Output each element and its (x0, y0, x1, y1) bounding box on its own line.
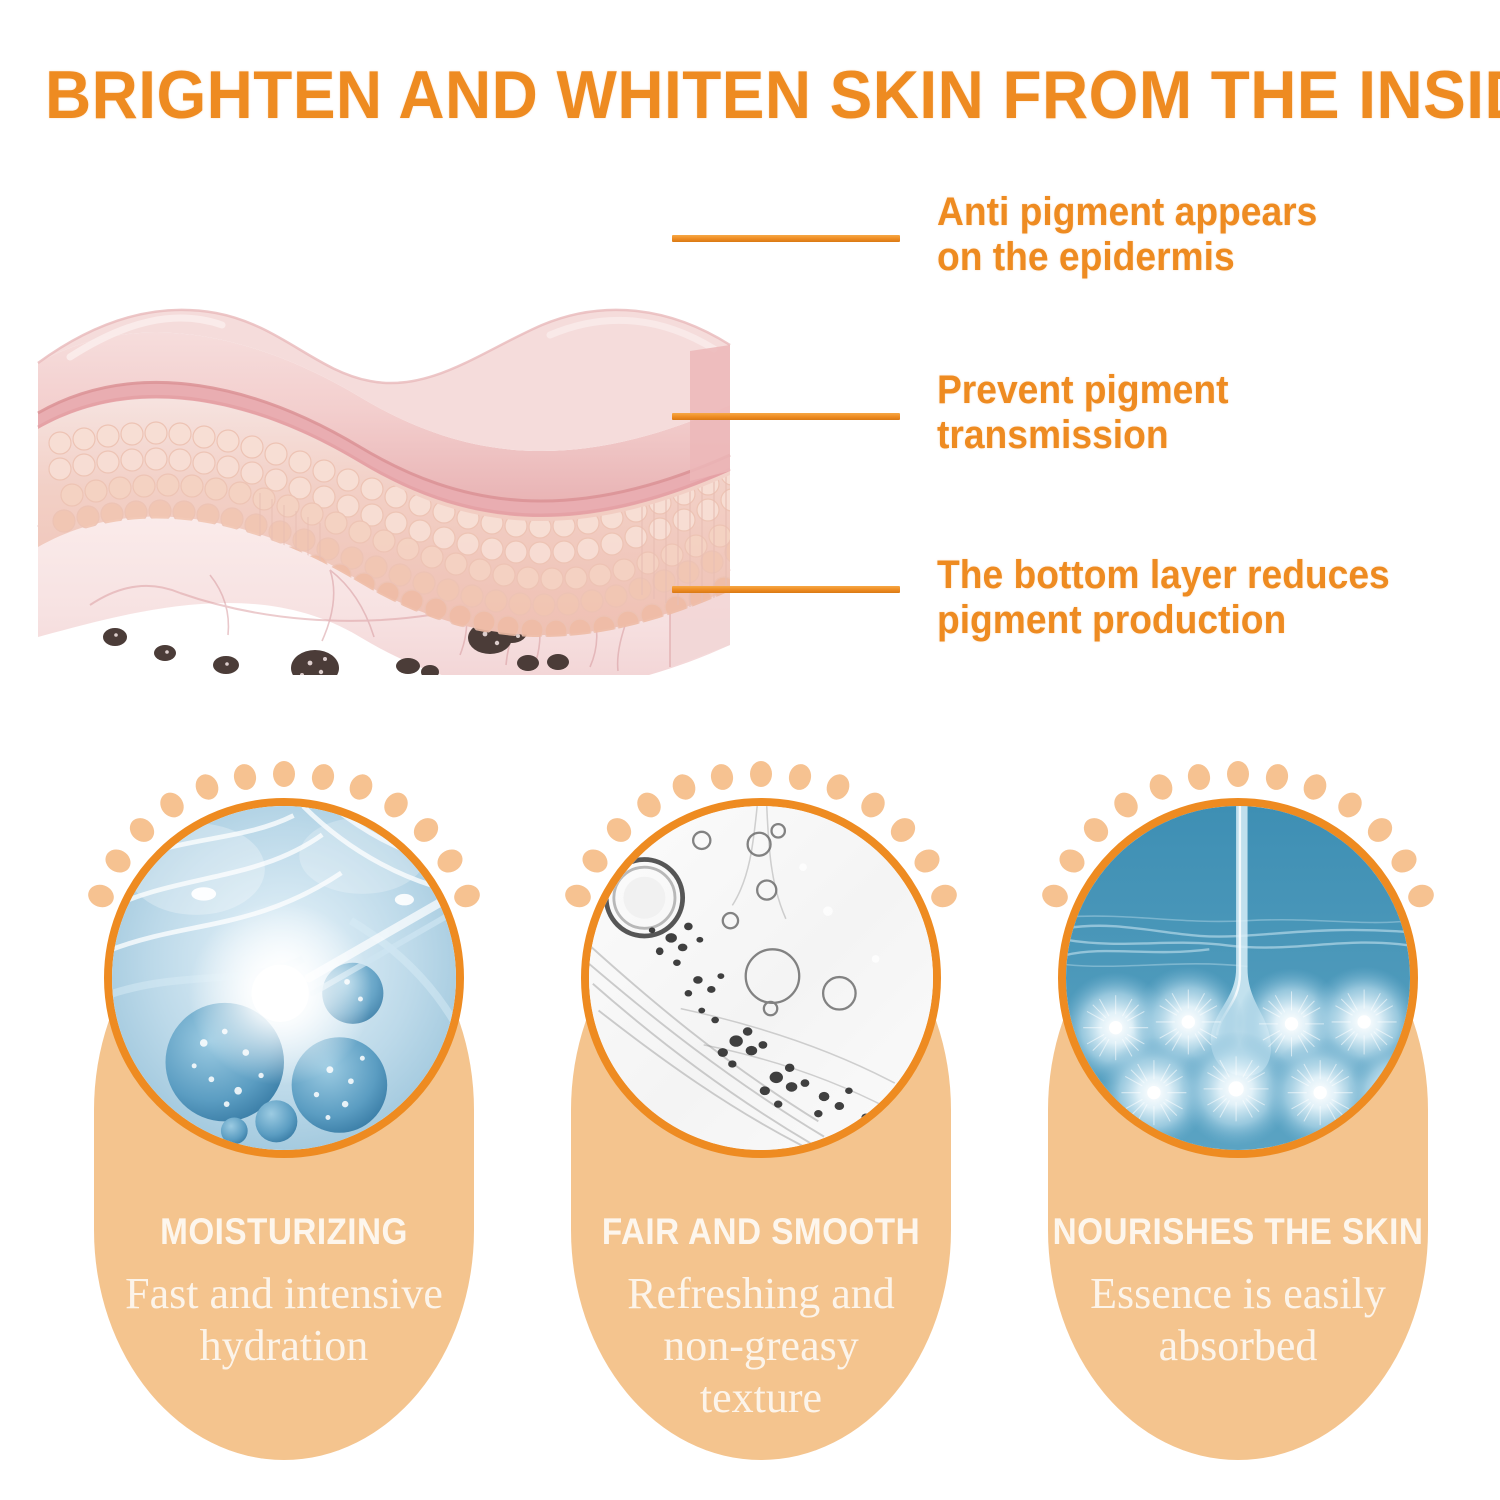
water-droplets-photo (104, 798, 464, 1158)
annotation-label: Anti pigment appears on the epidermis (937, 190, 1317, 280)
clear-gel-texture-photo (581, 798, 941, 1158)
card-description: Refreshing and non-greasy texture (559, 1268, 963, 1424)
skin-cells-blue-photo (1058, 798, 1418, 1158)
card-description: Essence is easily absorbed (1036, 1268, 1440, 1372)
page-title: BRIGHTEN AND WHITEN SKIN FROM THE INSIDE… (45, 56, 1455, 134)
annotation-epidermis: Anti pigment appears on the epidermis (672, 190, 1472, 300)
infographic-page: BRIGHTEN AND WHITEN SKIN FROM THE INSIDE… (0, 0, 1500, 1500)
annotation-label: The bottom layer reduces pigment product… (937, 553, 1390, 643)
card-title: NOURISHES THE SKIN (1044, 1212, 1433, 1252)
feature-card-fair-and-smooth: FAIR AND SMOOTH Refreshing and non-greas… (545, 760, 977, 1460)
card-title: FAIR AND SMOOTH (567, 1212, 956, 1252)
skin-cross-section-diagram (30, 175, 750, 675)
leader-line-icon (672, 586, 900, 593)
feature-cards: MOISTURIZING Fast and intensive hydratio… (0, 700, 1500, 1500)
feature-card-moisturizing: MOISTURIZING Fast and intensive hydratio… (68, 760, 500, 1460)
leader-line-icon (672, 413, 900, 420)
card-description: Fast and intensive hydration (82, 1268, 486, 1372)
annotation-label: Prevent pigment transmission (937, 368, 1228, 458)
leader-line-icon (672, 235, 900, 242)
annotation-transmission: Prevent pigment transmission (672, 368, 1472, 478)
card-title: MOISTURIZING (90, 1212, 479, 1252)
feature-card-nourishes-the-skin: NOURISHES THE SKIN Essence is easily abs… (1022, 760, 1454, 1460)
annotation-bottom-layer: The bottom layer reduces pigment product… (672, 558, 1492, 668)
